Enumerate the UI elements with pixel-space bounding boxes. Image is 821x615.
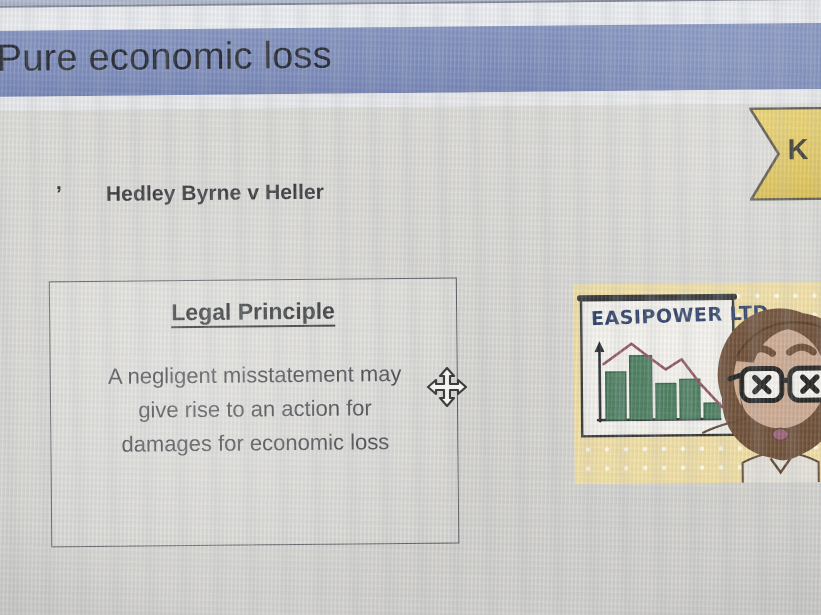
ribbon-label: K: [787, 134, 808, 167]
case-name-text: Hedley Byrne v Heller: [106, 181, 324, 207]
legal-principle-heading-text: Legal Principle: [171, 298, 335, 329]
glasses-with-x-eyes: [730, 368, 821, 401]
principle-line-2: give rise to an action for: [61, 391, 449, 429]
principle-line-1: A negligent misstatement may: [61, 357, 449, 395]
legal-principle-box[interactable]: Legal Principle A negligent misstatement…: [49, 277, 460, 547]
bullet-marker-icon: ’: [56, 183, 78, 205]
slide-plane: Pure economic loss ’ Hedley Byrne v Hell…: [0, 0, 821, 615]
move-cursor[interactable]: [425, 365, 469, 409]
principle-line-3: damages for economic loss: [61, 425, 449, 463]
legal-principle-heading: Legal Principle: [50, 296, 456, 327]
bullet-list-item: ’ Hedley Byrne v Heller: [56, 181, 324, 208]
page-title: Pure economic loss: [0, 35, 332, 81]
legal-principle-body: A negligent misstatement may give rise t…: [61, 357, 450, 463]
easipower-illustration: EASIPOWER LTD: [573, 282, 821, 484]
illustration-artwork: EASIPOWER LTD: [573, 282, 821, 484]
photographed-slide-screenshot: Pure economic loss ’ Hedley Byrne v Hell…: [0, 0, 821, 615]
